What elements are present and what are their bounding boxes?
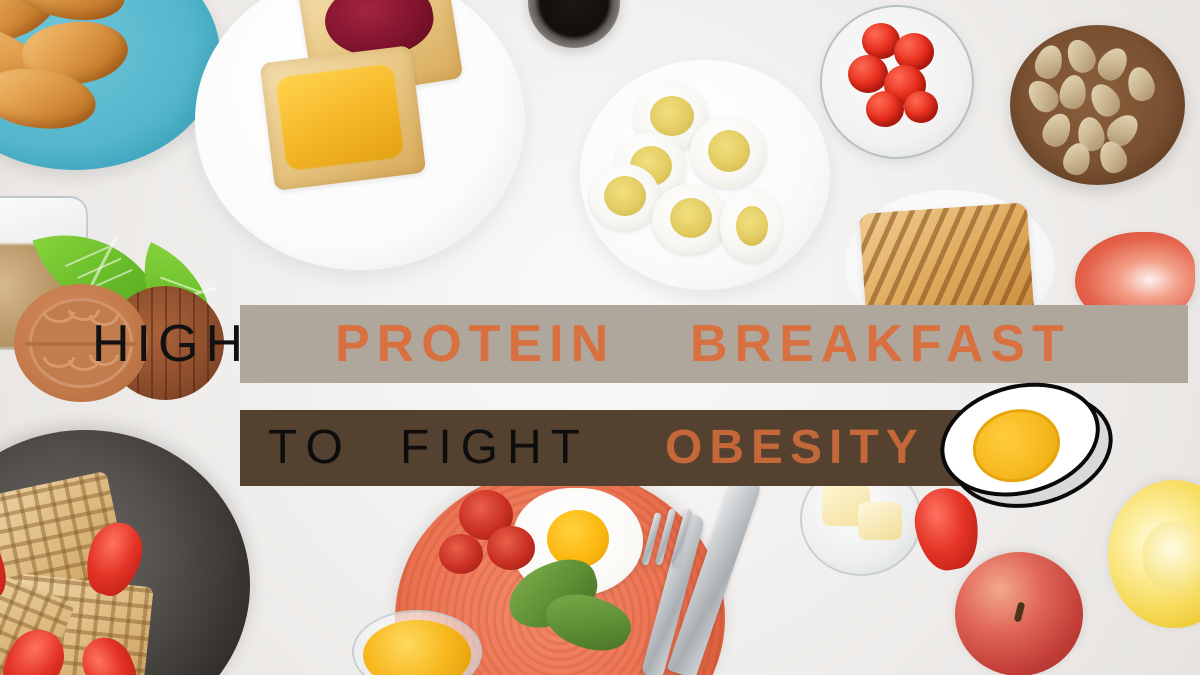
cherry-tomato-bowl [820, 5, 974, 159]
headline-word-protein: PROTEIN [335, 318, 615, 370]
title-card-canvas: HIGH PROTEIN BREAKFAST TO FIGHT OBESITY [0, 0, 1200, 675]
walnut-leaves-sticker [2, 222, 252, 400]
boiled-eggs-plate [580, 60, 830, 290]
waffle-skillet [0, 430, 250, 675]
croissant-bowl [0, 0, 220, 170]
headline-word-high: HIGH [92, 318, 250, 370]
headline-word-obesity: OBESITY [665, 424, 925, 472]
coffee-cup [528, 0, 620, 48]
almond-bowl [1010, 25, 1185, 185]
headline-word-fight: FIGHT [400, 424, 589, 472]
egg-yolk-icon [965, 400, 1068, 491]
apple [955, 552, 1083, 675]
lemon-half [1108, 480, 1200, 628]
headline-word-breakfast: BREAKFAST [690, 318, 1071, 370]
headline-word-to: TO [268, 424, 352, 472]
